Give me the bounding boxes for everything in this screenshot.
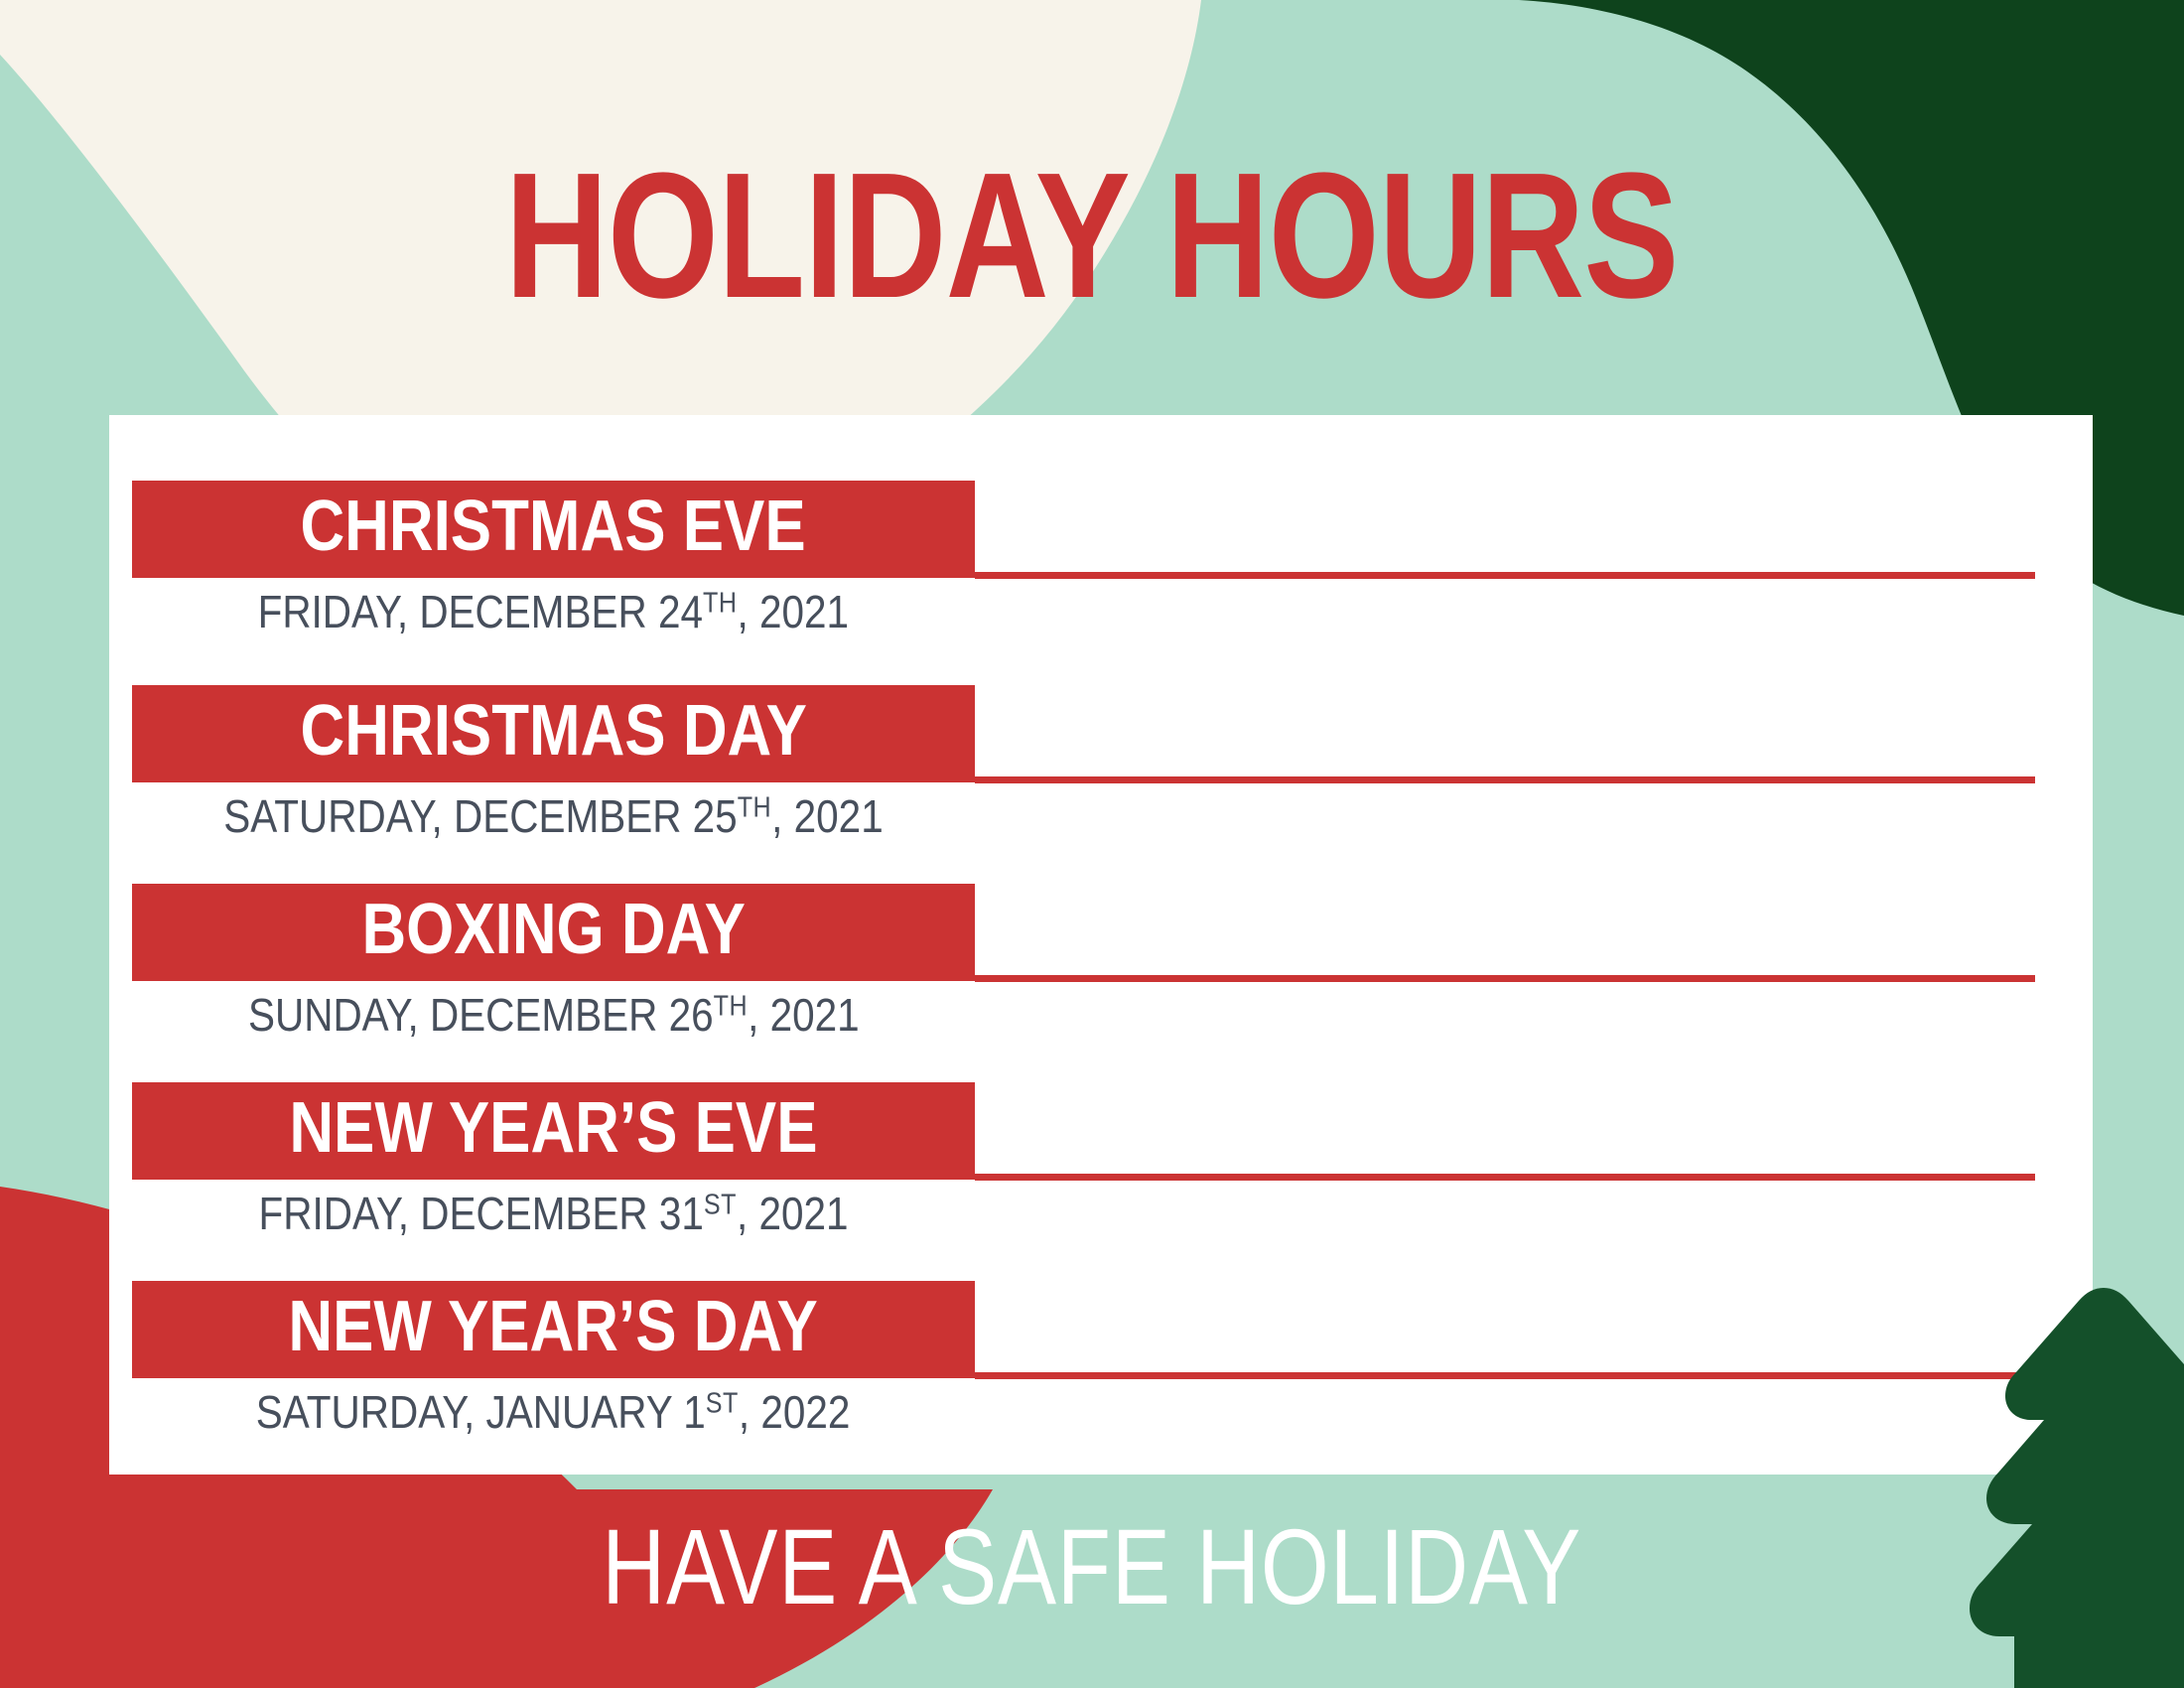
- date-year: , 2021: [738, 586, 850, 637]
- date-ordinal: ST: [706, 1387, 739, 1419]
- holiday-name-bar: NEW YEAR’S DAY: [132, 1281, 975, 1378]
- holiday-hours-poster: HOLIDAY HOURS CHRISTMAS EVE FRIDAY, DECE…: [0, 0, 2184, 1688]
- date-month-day: DECEMBER 24: [420, 586, 704, 637]
- date-weekday: SUNDAY,: [248, 989, 430, 1041]
- holiday-name-bar: CHRISTMAS EVE: [132, 481, 975, 578]
- date-month-day: JANUARY 1: [486, 1386, 706, 1438]
- hours-write-in-rule: [975, 1174, 2035, 1181]
- schedule-row: BOXING DAY SUNDAY, DECEMBER 26TH, 2021: [109, 884, 2093, 1082]
- date-year: , 2021: [771, 790, 884, 842]
- date-year: , 2021: [748, 989, 860, 1041]
- date-weekday: SATURDAY,: [223, 790, 454, 842]
- schedule-row: CHRISTMAS DAY SATURDAY, DECEMBER 25TH, 2…: [109, 685, 2093, 884]
- date-ordinal: TH: [738, 791, 771, 823]
- hours-write-in-rule: [975, 776, 2035, 783]
- holiday-name-bar: NEW YEAR’S EVE: [132, 1082, 975, 1180]
- hours-write-in-rule: [975, 975, 2035, 982]
- date-month-day: DECEMBER 26: [430, 989, 714, 1041]
- schedule-card: CHRISTMAS EVE FRIDAY, DECEMBER 24TH, 202…: [109, 415, 2093, 1475]
- hours-write-in-rule: [975, 572, 2035, 579]
- page-title-text: HOLIDAY HOURS: [505, 147, 1679, 326]
- schedule-row: CHRISTMAS EVE FRIDAY, DECEMBER 24TH, 202…: [109, 481, 2093, 679]
- holiday-name: CHRISTMAS DAY: [300, 695, 806, 767]
- holiday-date: FRIDAY, DECEMBER 24TH, 2021: [132, 584, 975, 641]
- holiday-name: NEW YEAR’S EVE: [289, 1092, 817, 1164]
- date-ordinal: TH: [713, 990, 747, 1022]
- holiday-name-bar: BOXING DAY: [132, 884, 975, 981]
- holiday-date: FRIDAY, DECEMBER 31ST, 2021: [132, 1186, 975, 1243]
- schedule-row: NEW YEAR’S DAY SATURDAY, JANUARY 1ST, 20…: [109, 1281, 2093, 1479]
- holiday-name-bar: CHRISTMAS DAY: [132, 685, 975, 782]
- date-weekday: FRIDAY,: [258, 1188, 420, 1239]
- date-month-day: DECEMBER 25: [454, 790, 738, 842]
- hours-write-in-rule: [975, 1372, 2035, 1379]
- tagline: HAVE A SAFE HOLIDAY: [0, 1513, 2184, 1620]
- date-year: , 2022: [739, 1386, 851, 1438]
- date-weekday: FRIDAY,: [258, 586, 420, 637]
- page-title: HOLIDAY HOURS: [0, 147, 2184, 326]
- tagline-text: HAVE A SAFE HOLIDAY: [603, 1513, 1582, 1620]
- schedule-row: NEW YEAR’S EVE FRIDAY, DECEMBER 31ST, 20…: [109, 1082, 2093, 1281]
- date-ordinal: ST: [704, 1189, 737, 1220]
- holiday-date: SATURDAY, JANUARY 1ST, 2022: [132, 1384, 975, 1442]
- holiday-name: CHRISTMAS EVE: [301, 491, 806, 562]
- holiday-name: BOXING DAY: [361, 894, 746, 965]
- holiday-date: SATURDAY, DECEMBER 25TH, 2021: [132, 788, 975, 846]
- date-month-day: DECEMBER 31: [420, 1188, 704, 1239]
- holiday-name: NEW YEAR’S DAY: [289, 1291, 818, 1362]
- holiday-date: SUNDAY, DECEMBER 26TH, 2021: [132, 987, 975, 1045]
- date-weekday: SATURDAY,: [256, 1386, 486, 1438]
- date-ordinal: TH: [703, 587, 737, 619]
- date-year: , 2021: [737, 1188, 849, 1239]
